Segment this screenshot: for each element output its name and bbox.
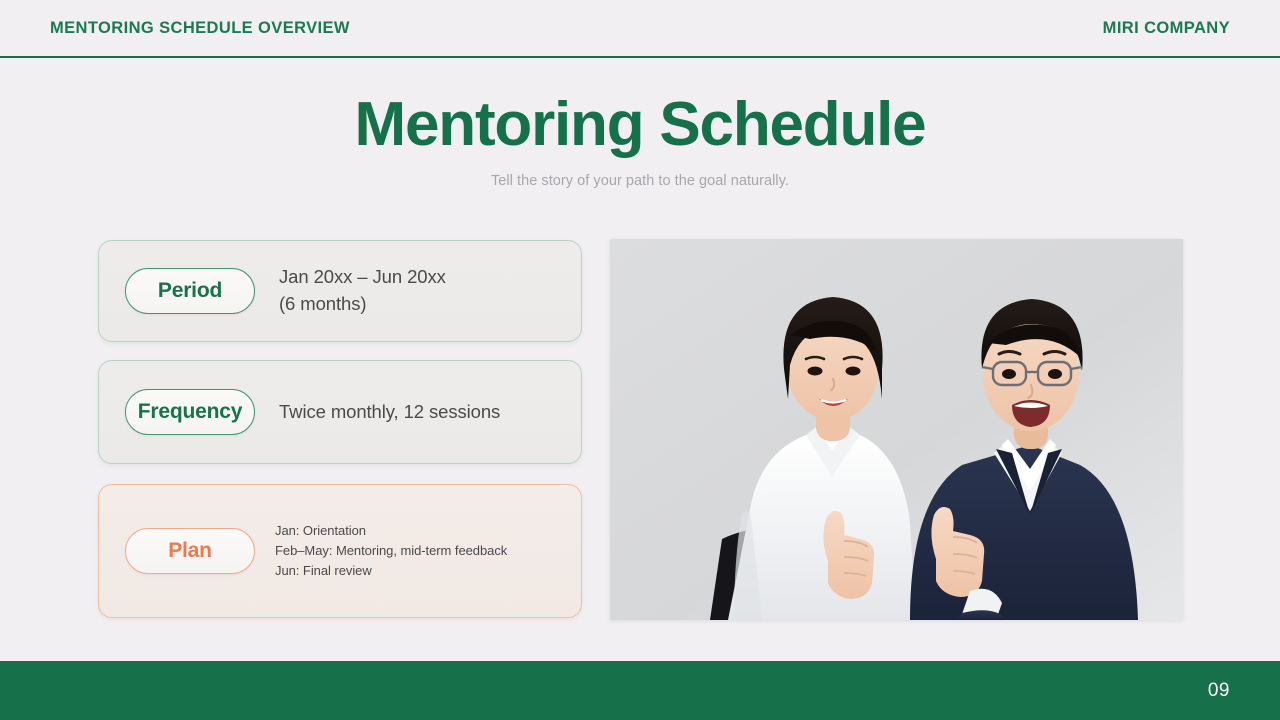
frequency-pill-label: Frequency — [138, 400, 242, 424]
frequency-card-text: Twice monthly, 12 sessions — [279, 399, 500, 426]
period-pill-label: Period — [158, 279, 222, 303]
plan-line-2: Feb–May: Mentoring, mid-term feedback — [275, 541, 507, 561]
period-pill-badge: Period — [125, 268, 255, 314]
info-card-list: Period Jan 20xx – Jun 20xx (6 months) Fr… — [98, 240, 582, 618]
page-number: 09 — [1208, 680, 1230, 702]
plan-line-3: Jun: Final review — [275, 561, 507, 581]
slide-footer: 09 — [0, 661, 1280, 720]
page-title: Mentoring Schedule — [0, 92, 1280, 157]
slide: MENTORING SCHEDULE OVERVIEW MIRI COMPANY… — [0, 0, 1280, 720]
period-line-2: (6 months) — [279, 291, 446, 318]
slide-header: MENTORING SCHEDULE OVERVIEW MIRI COMPANY — [0, 0, 1280, 58]
plan-line-1: Jan: Orientation — [275, 521, 507, 541]
info-card-plan: Plan Jan: Orientation Feb–May: Mentoring… — [98, 484, 582, 618]
period-line-1: Jan 20xx – Jun 20xx — [279, 264, 446, 291]
plan-pill-badge: Plan — [125, 528, 255, 574]
frequency-line-1: Twice monthly, 12 sessions — [279, 399, 500, 426]
two-business-people-thumbs-up-photo — [610, 239, 1183, 620]
period-card-text: Jan 20xx – Jun 20xx (6 months) — [279, 264, 446, 318]
plan-card-text: Jan: Orientation Feb–May: Mentoring, mid… — [275, 521, 507, 580]
info-card-period: Period Jan 20xx – Jun 20xx (6 months) — [98, 240, 582, 342]
plan-pill-label: Plan — [168, 539, 212, 563]
frequency-pill-badge: Frequency — [125, 389, 255, 435]
header-section-label: MENTORING SCHEDULE OVERVIEW — [50, 19, 350, 38]
info-card-frequency: Frequency Twice monthly, 12 sessions — [98, 360, 582, 464]
title-block: Mentoring Schedule Tell the story of you… — [0, 92, 1280, 189]
header-company-label: MIRI COMPANY — [1103, 19, 1230, 38]
page-subtitle: Tell the story of your path to the goal … — [0, 173, 1280, 189]
